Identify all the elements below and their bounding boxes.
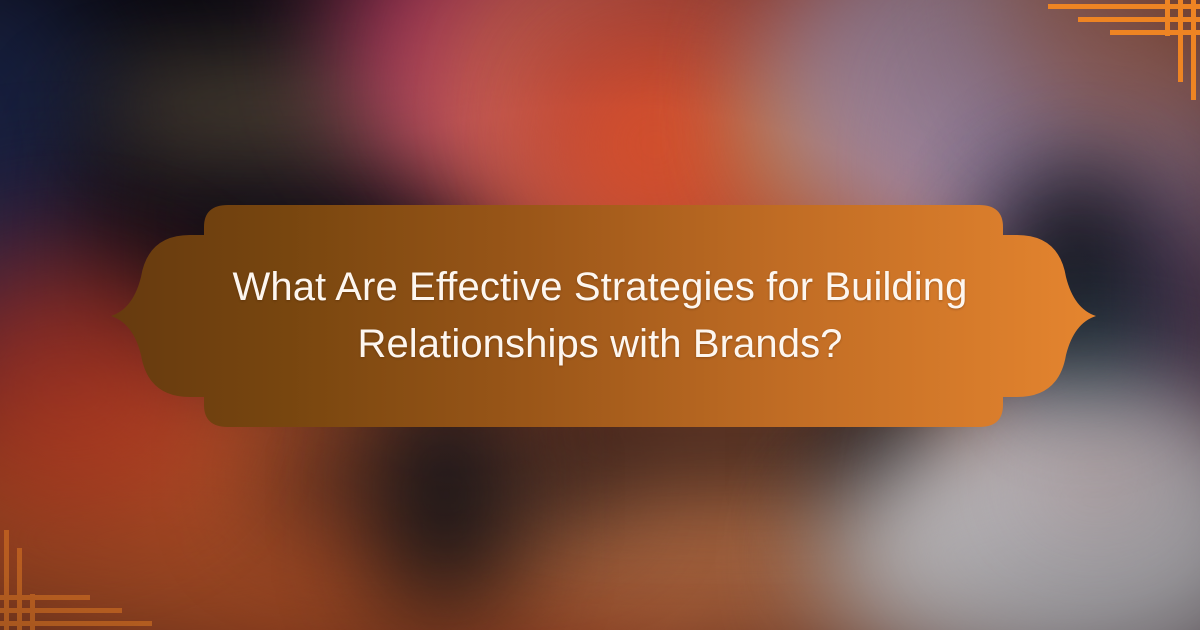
title-text-container: What Are Effective Strategies for Buildi… (214, 205, 986, 427)
corner-line-horizontal-3 (0, 595, 90, 600)
corner-ornament-top-right (1030, 0, 1200, 104)
corner-line-horizontal-1 (0, 621, 152, 626)
title-card-canvas: What Are Effective Strategies for Buildi… (0, 0, 1200, 630)
corner-line-vertical-3 (1165, 0, 1170, 36)
corner-line-horizontal-3 (1110, 30, 1200, 35)
corner-line-vertical-1 (1191, 0, 1196, 100)
corner-line-vertical-2 (17, 548, 22, 630)
corner-ornament-bottom-left (0, 526, 170, 630)
corner-line-vertical-2 (1178, 0, 1183, 82)
page-title: What Are Effective Strategies for Buildi… (224, 259, 976, 373)
title-plaque: What Are Effective Strategies for Buildi… (104, 205, 1096, 427)
corner-line-vertical-3 (30, 594, 35, 630)
corner-line-vertical-1 (4, 530, 9, 630)
